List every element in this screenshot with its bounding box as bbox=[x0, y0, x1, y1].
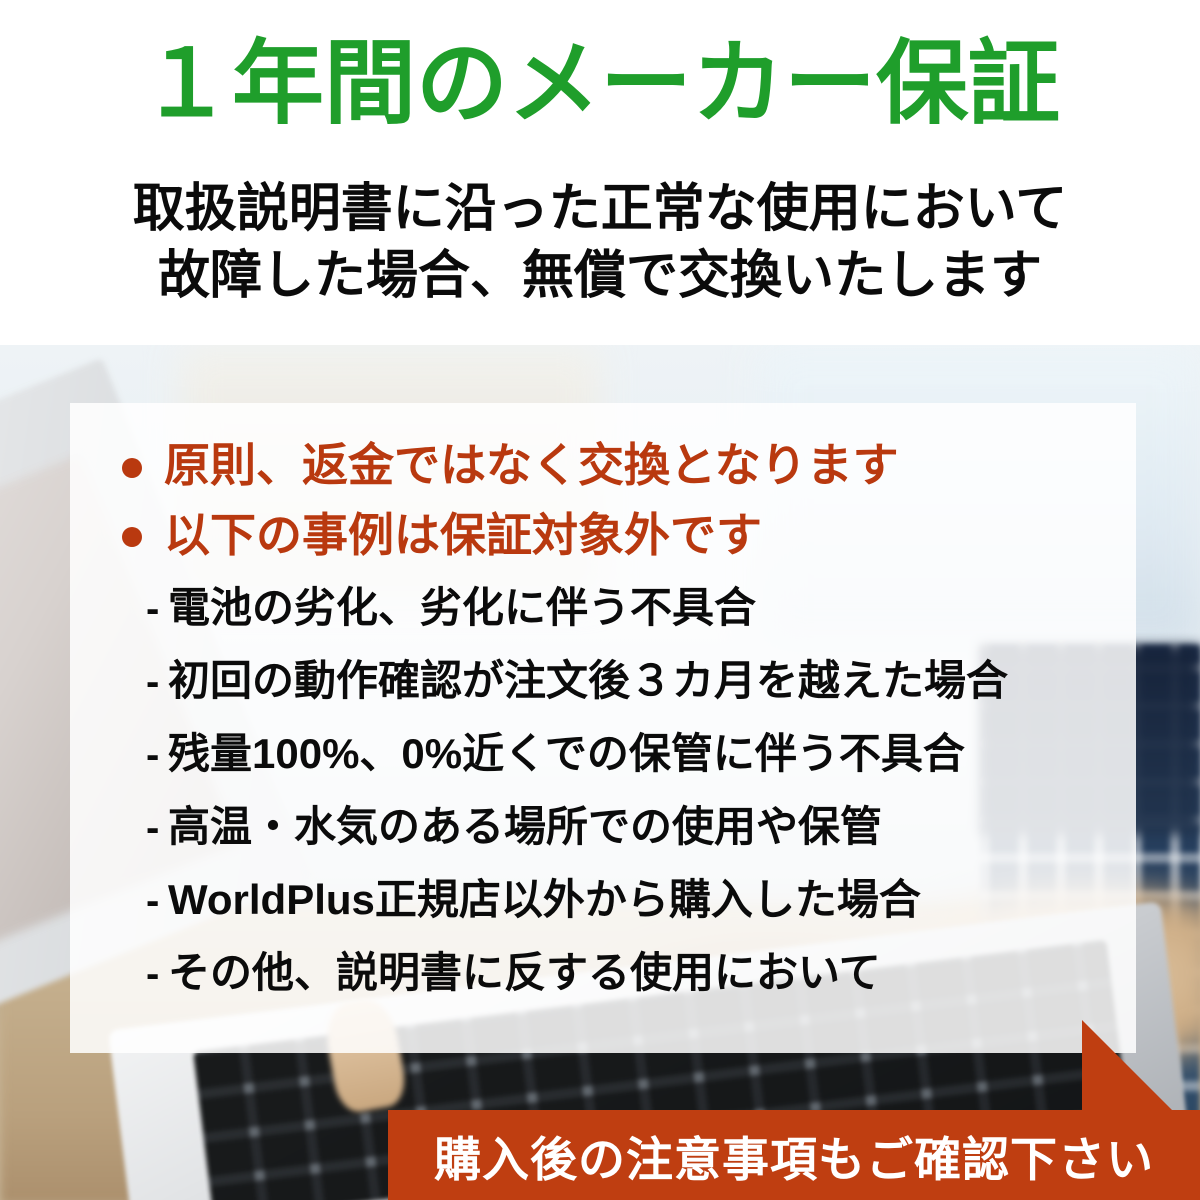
notice-banner[interactable]: 購入後の注意事項もご確認下さい bbox=[388, 1110, 1200, 1200]
dash-marker-icon: - bbox=[146, 881, 168, 921]
list-item: - 初回の動作確認が注文後３カ月を越えた場合 bbox=[146, 658, 1146, 731]
bullet-dot-icon bbox=[122, 458, 142, 478]
exclusion-list: - 電池の劣化、劣化に伴う不具合 - 初回の動作確認が注文後３カ月を越えた場合 … bbox=[146, 585, 1146, 1023]
page-subtitle-line2: 故障した場合、無償で交換いたします bbox=[0, 243, 1200, 310]
page-subtitle: 取扱説明書に沿った正常な使用において 故障した場合、無償で交換いたします bbox=[0, 176, 1200, 309]
warranty-poster: １年間のメーカー保証 取扱説明書に沿った正常な使用において 故障した場合、無償で… bbox=[0, 0, 1200, 1200]
bullet-label: 原則、返金ではなく交換となります bbox=[164, 437, 899, 495]
page-subtitle-line1: 取扱説明書に沿った正常な使用において bbox=[133, 180, 1067, 238]
exclusion-label: 残量100%、0%近くでの保管に伴う不具合 bbox=[168, 731, 965, 776]
list-item: 以下の事例は保証対象外です bbox=[122, 507, 1122, 565]
dash-marker-icon: - bbox=[146, 589, 168, 629]
list-item: - その他、説明書に反する使用において bbox=[146, 950, 1146, 1023]
dash-marker-icon: - bbox=[146, 662, 168, 702]
dash-marker-icon: - bbox=[146, 735, 168, 775]
list-item: - WorldPlus正規店以外から購入した場合 bbox=[146, 877, 1146, 950]
header-zone: １年間のメーカー保証 取扱説明書に沿った正常な使用において 故障した場合、無償で… bbox=[0, 0, 1200, 345]
exclusion-label: 初回の動作確認が注文後３カ月を越えた場合 bbox=[168, 658, 1008, 703]
exclusion-label: 電池の劣化、劣化に伴う不具合 bbox=[168, 585, 756, 630]
bullet-list: 原則、返金ではなく交換となります 以下の事例は保証対象外です bbox=[122, 437, 1122, 576]
exclusion-label: WorldPlus正規店以外から購入した場合 bbox=[168, 877, 921, 922]
list-item: 原則、返金ではなく交換となります bbox=[122, 437, 1122, 495]
content-area: 原則、返金ではなく交換となります 以下の事例は保証対象外です - 電池の劣化、劣… bbox=[70, 403, 1136, 1053]
dash-marker-icon: - bbox=[146, 808, 168, 848]
notice-banner-label: 購入後の注意事項もご確認下さい bbox=[434, 1121, 1154, 1190]
dash-marker-icon: - bbox=[146, 954, 168, 994]
bullet-label: 以下の事例は保証対象外です bbox=[164, 507, 762, 565]
bullet-dot-icon bbox=[122, 527, 142, 547]
exclusion-label: 高温・水気のある場所での使用や保管 bbox=[168, 804, 882, 849]
exclusion-label: その他、説明書に反する使用において bbox=[168, 950, 881, 995]
list-item: - 電池の劣化、劣化に伴う不具合 bbox=[146, 585, 1146, 658]
list-item: - 高温・水気のある場所での使用や保管 bbox=[146, 804, 1146, 877]
page-title: １年間のメーカー保証 bbox=[0, 36, 1200, 133]
list-item: - 残量100%、0%近くでの保管に伴う不具合 bbox=[146, 731, 1146, 804]
